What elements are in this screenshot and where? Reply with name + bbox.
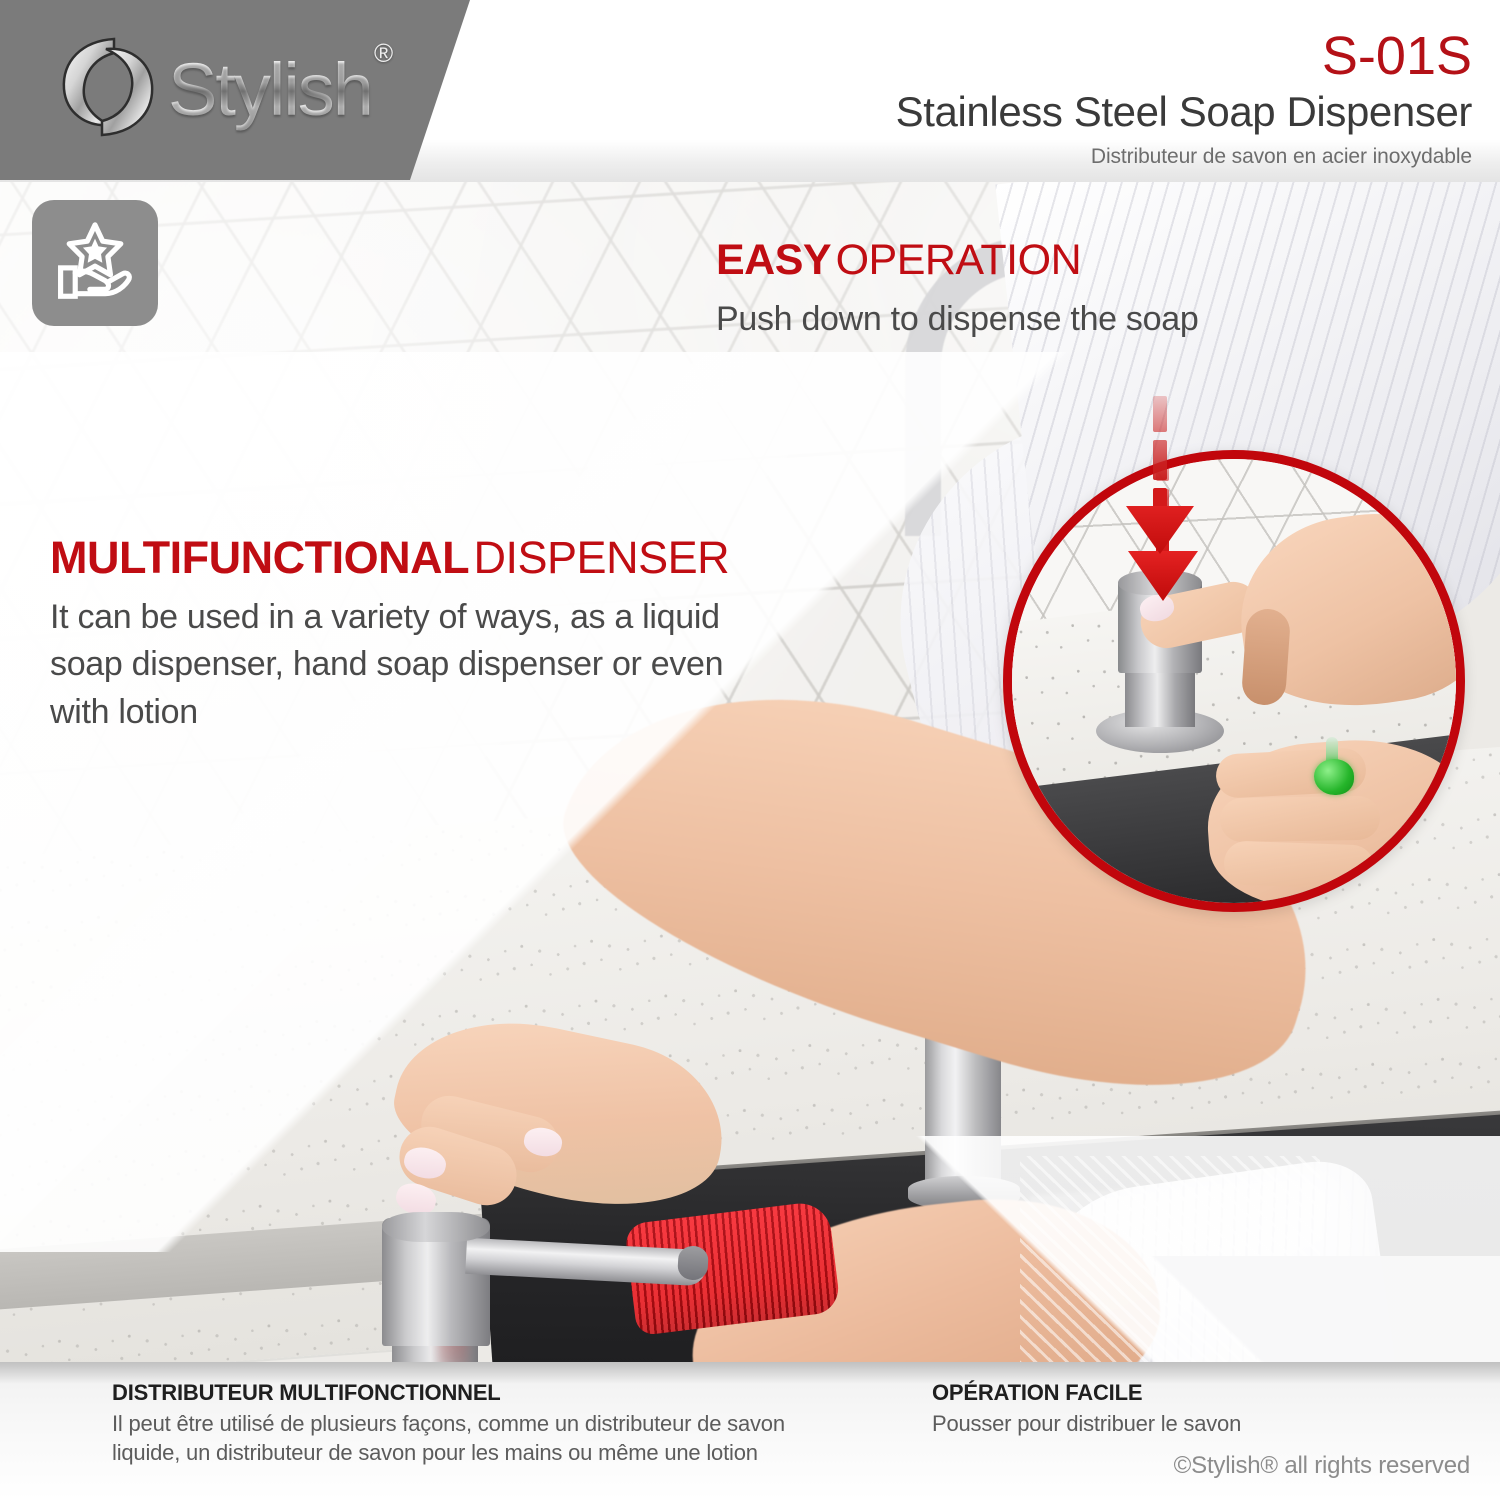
logo-wordmark: Stylish <box>168 47 372 132</box>
circle-detail-photo <box>1003 450 1465 912</box>
logo-panel: Stylish ® <box>0 0 470 180</box>
registered-trademark-icon: ® <box>374 38 393 69</box>
feature-multifunctional-dispenser: MULTIFUNCTIONAL DISPENSER It can be used… <box>50 534 770 736</box>
inset-curled-finger <box>1241 608 1292 707</box>
arrow-dash-2 <box>1153 440 1167 480</box>
feature-body: It can be used in a variety of ways, as … <box>50 594 770 737</box>
dispenser-spout-tip <box>677 1245 709 1281</box>
product-title: Stainless Steel Soap Dispenser <box>652 87 1472 137</box>
inset-green-soap-drop <box>1314 759 1354 795</box>
inset-palm-finger-3 <box>1223 840 1374 889</box>
product-infographic: Stylish ® S-01S Stainless Steel Soap Dis… <box>0 0 1500 1500</box>
stylish-leaf-s-mark-icon <box>52 31 164 143</box>
feature-heading-strong: EASY <box>716 236 831 284</box>
feature-heading-light: OPERATION <box>836 236 1082 284</box>
feature-heading: MULTIFUNCTIONAL DISPENSER <box>50 534 770 582</box>
footer-body-left-line2: liquide, un distributeur de savon pour l… <box>112 1438 872 1467</box>
product-subtitle-fr: Distributeur de savon en acier inoxydabl… <box>652 145 1472 169</box>
feature-easy-operation: EASY OPERATION Push down to dispense the… <box>716 238 1276 343</box>
feature-badge <box>32 200 158 326</box>
inset-palm-finger-2 <box>1220 796 1381 843</box>
header-text-group: S-01S Stainless Steel Soap Dispenser Dis… <box>652 28 1472 169</box>
hand-holding-star-icon <box>52 218 138 309</box>
footer-heading-right: OPÉRATION FACILE <box>932 1380 1452 1406</box>
feature-heading: EASY OPERATION <box>716 238 1276 284</box>
dispenser-pump-cap <box>382 1212 490 1242</box>
footer-caption-right: OPÉRATION FACILE Pousser pour distribuer… <box>932 1380 1452 1438</box>
product-sku: S-01S <box>652 28 1472 85</box>
footer-caption-left: DISTRIBUTEUR MULTIFONCTIONNEL Il peut êt… <box>112 1380 872 1468</box>
feature-body: Push down to dispense the soap <box>716 296 1276 344</box>
footer-body-right-line1: Pousser pour distribuer le savon <box>932 1409 1452 1438</box>
footer-body-left-line1: Il peut être utilisé de plusieurs façons… <box>112 1409 872 1438</box>
red-dashed-down-arrow-icon <box>1129 396 1191 546</box>
arrow-dash-1 <box>1153 396 1167 432</box>
footer-heading-left: DISTRIBUTEUR MULTIFONCTIONNEL <box>112 1380 872 1406</box>
feature-heading-strong: MULTIFUNCTIONAL <box>50 532 469 583</box>
feature-heading-light: DISPENSER <box>474 532 730 583</box>
inset-arrow-head <box>1128 551 1198 601</box>
copyright-notice: ©Stylish® all rights reserved <box>1174 1452 1470 1480</box>
